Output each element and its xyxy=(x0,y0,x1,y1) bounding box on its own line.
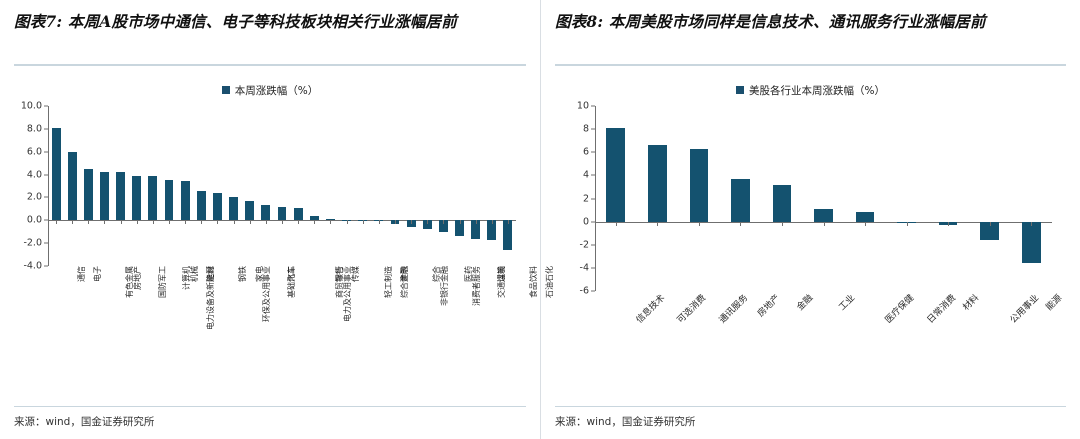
x-axis-category-label: 银行 xyxy=(334,266,345,282)
bar xyxy=(116,172,125,220)
source-divider xyxy=(555,406,1066,407)
y-axis-tick xyxy=(44,106,48,107)
bar xyxy=(731,179,750,222)
x-axis-tick xyxy=(907,222,908,226)
y-axis-tick xyxy=(44,220,48,221)
x-axis-tick xyxy=(282,220,283,224)
legend-swatch-icon xyxy=(222,86,230,94)
x-axis-tick xyxy=(740,222,741,226)
x-axis-category-label: 能源 xyxy=(1042,291,1064,313)
x-axis-category-label: 机械 xyxy=(189,266,200,282)
bar xyxy=(814,209,833,222)
x-axis-tick xyxy=(266,220,267,224)
x-axis-tick xyxy=(395,220,396,224)
x-axis-category-label: 医疗保健 xyxy=(882,291,917,326)
y-axis-tick xyxy=(591,152,595,153)
x-axis-tick xyxy=(137,220,138,224)
figure-8-legend: 美股各行业本周涨跌幅（%） xyxy=(555,82,1066,98)
y-axis-tick xyxy=(591,267,595,268)
x-axis-tick xyxy=(330,220,331,224)
x-axis-labels: 通信电子有色金属房地产国防军工电力设备及新能源计算机机械建材环保及公用事业钢铁家… xyxy=(48,266,526,376)
bar xyxy=(165,180,174,220)
bar xyxy=(132,176,141,221)
bar xyxy=(181,181,190,220)
bar xyxy=(245,201,254,220)
x-axis-category-label: 房地产 xyxy=(132,266,143,290)
x-axis-category-label: 传媒 xyxy=(350,266,361,282)
x-axis-tick xyxy=(616,222,617,226)
x-axis-tick xyxy=(88,220,89,224)
source-text: 来源：wind，国金证券研究所 xyxy=(555,414,1066,429)
x-axis-tick xyxy=(1031,222,1032,226)
x-axis-tick xyxy=(990,222,991,226)
bar xyxy=(84,169,93,220)
x-axis-tick xyxy=(492,220,493,224)
x-axis-tick xyxy=(948,222,949,226)
bar xyxy=(52,128,61,221)
bar xyxy=(148,176,157,221)
bar xyxy=(197,191,206,221)
legend-label: 美股各行业本周涨跌幅（%） xyxy=(749,83,885,98)
figure-7-legend: 本周涨跌幅（%） xyxy=(14,82,526,98)
x-axis-category-label: 医药 xyxy=(463,266,474,282)
source-text: 来源：wind，国金证券研究所 xyxy=(14,414,526,429)
x-axis-tick xyxy=(121,220,122,224)
x-axis-tick xyxy=(185,220,186,224)
x-axis-category-label: 房地产 xyxy=(754,291,782,319)
legend-swatch-icon xyxy=(736,86,744,94)
y-axis-tick xyxy=(44,174,48,175)
x-axis-category-label: 公用事业 xyxy=(1006,291,1041,326)
x-axis-category-label: 工业 xyxy=(835,291,857,313)
x-axis-tick xyxy=(865,222,866,226)
x-axis-tick xyxy=(298,220,299,224)
x-axis-category-label: 电子 xyxy=(92,266,103,282)
x-axis-tick xyxy=(824,222,825,226)
x-axis-labels: 信息技术可选消费通讯服务房地产金融工业医疗保健日常消费材料公用事业能源 xyxy=(595,291,1066,371)
y-axis-tick xyxy=(591,175,595,176)
bar xyxy=(773,185,792,222)
bar xyxy=(100,172,109,220)
figure-8-source: 来源：wind，国金证券研究所 xyxy=(555,406,1066,429)
x-axis-tick xyxy=(508,220,509,224)
x-axis-category-label: 煤炭 xyxy=(496,266,507,282)
bar xyxy=(1022,222,1041,264)
bar xyxy=(856,212,875,221)
x-axis-tick xyxy=(169,220,170,224)
figure-panel-8: 图表8: 本周美股市场同样是信息技术、通讯服务行业涨幅居前 美股各行业本周涨跌幅… xyxy=(540,0,1080,439)
x-axis-category-label: 国防军工 xyxy=(157,266,168,298)
y-axis-tick xyxy=(44,128,48,129)
x-axis-tick xyxy=(460,220,461,224)
x-axis-tick xyxy=(72,220,73,224)
y-axis-tick xyxy=(44,197,48,198)
y-axis-tick xyxy=(591,129,595,130)
plot-area xyxy=(595,106,1052,291)
y-axis-tick xyxy=(44,243,48,244)
bar xyxy=(294,208,303,221)
x-axis-category-label: 钢铁 xyxy=(237,266,248,282)
x-axis-tick xyxy=(657,222,658,226)
title-divider xyxy=(14,64,526,66)
x-axis-tick xyxy=(363,220,364,224)
y-axis-tick xyxy=(591,198,595,199)
y-axis-tick xyxy=(591,244,595,245)
x-axis-tick xyxy=(427,220,428,224)
x-axis-tick xyxy=(443,220,444,224)
x-axis-category-label: 可选消费 xyxy=(674,291,709,326)
x-axis-category-label: 食品饮料 xyxy=(528,266,539,298)
x-axis-category-label: 建筑 xyxy=(399,266,410,282)
x-axis-category-label: 金融 xyxy=(793,291,815,313)
bar xyxy=(213,193,222,220)
x-axis-category-label: 日常消费 xyxy=(923,291,958,326)
bar xyxy=(68,152,77,221)
title-divider xyxy=(555,64,1066,66)
x-axis-tick xyxy=(699,222,700,226)
x-axis-category-label: 轻工制造 xyxy=(383,266,394,298)
source-divider xyxy=(14,406,526,407)
bar xyxy=(503,220,512,250)
x-axis-tick xyxy=(56,220,57,224)
x-axis-tick xyxy=(104,220,105,224)
legend-label: 本周涨跌幅（%） xyxy=(235,83,318,98)
bar xyxy=(278,207,287,221)
x-axis-tick xyxy=(201,220,202,224)
x-axis-tick xyxy=(476,220,477,224)
y-axis-tick xyxy=(591,106,595,107)
figure-8-bar-chart: 1086420-2-4-6 xyxy=(595,106,1052,291)
x-axis-tick xyxy=(234,220,235,224)
bar xyxy=(690,149,709,222)
figure-8-title: 图表8: 本周美股市场同样是信息技术、通讯服务行业涨幅居前 xyxy=(555,10,1066,62)
x-axis-category-label: 汽车 xyxy=(286,266,297,282)
x-axis-category-label: 家电 xyxy=(254,266,265,282)
x-axis-tick xyxy=(217,220,218,224)
x-axis-tick xyxy=(153,220,154,224)
x-axis-category-label: 通信 xyxy=(76,266,87,282)
figure-7-source: 来源：wind，国金证券研究所 xyxy=(14,406,526,429)
figure-7-bar-chart: 10.08.06.04.02.00.0-2.0-4.0 xyxy=(48,106,516,266)
x-axis-category-label: 建材 xyxy=(205,266,216,282)
x-axis-tick xyxy=(347,220,348,224)
x-axis-tick xyxy=(411,220,412,224)
bar xyxy=(261,205,270,220)
x-axis-category-label: 通讯服务 xyxy=(715,291,750,326)
figure-panel-7: 图表7: 本周A股市场中通信、电子等科技板块相关行业涨幅居前 本周涨跌幅（%） … xyxy=(0,0,540,439)
x-axis-tick xyxy=(379,220,380,224)
y-axis-tick xyxy=(591,221,595,222)
bar xyxy=(606,128,625,222)
figure-7-title: 图表7: 本周A股市场中通信、电子等科技板块相关行业涨幅居前 xyxy=(14,10,526,62)
x-axis-tick xyxy=(250,220,251,224)
bar xyxy=(229,197,238,220)
x-axis-tick xyxy=(782,222,783,226)
plot-area xyxy=(48,106,516,266)
x-axis-category-label: 综合 xyxy=(431,266,442,282)
bar xyxy=(648,145,667,221)
x-axis-category-label: 信息技术 xyxy=(632,291,667,326)
x-axis-tick xyxy=(314,220,315,224)
x-axis-category-label: 材料 xyxy=(959,291,981,313)
y-axis-tick xyxy=(44,151,48,152)
